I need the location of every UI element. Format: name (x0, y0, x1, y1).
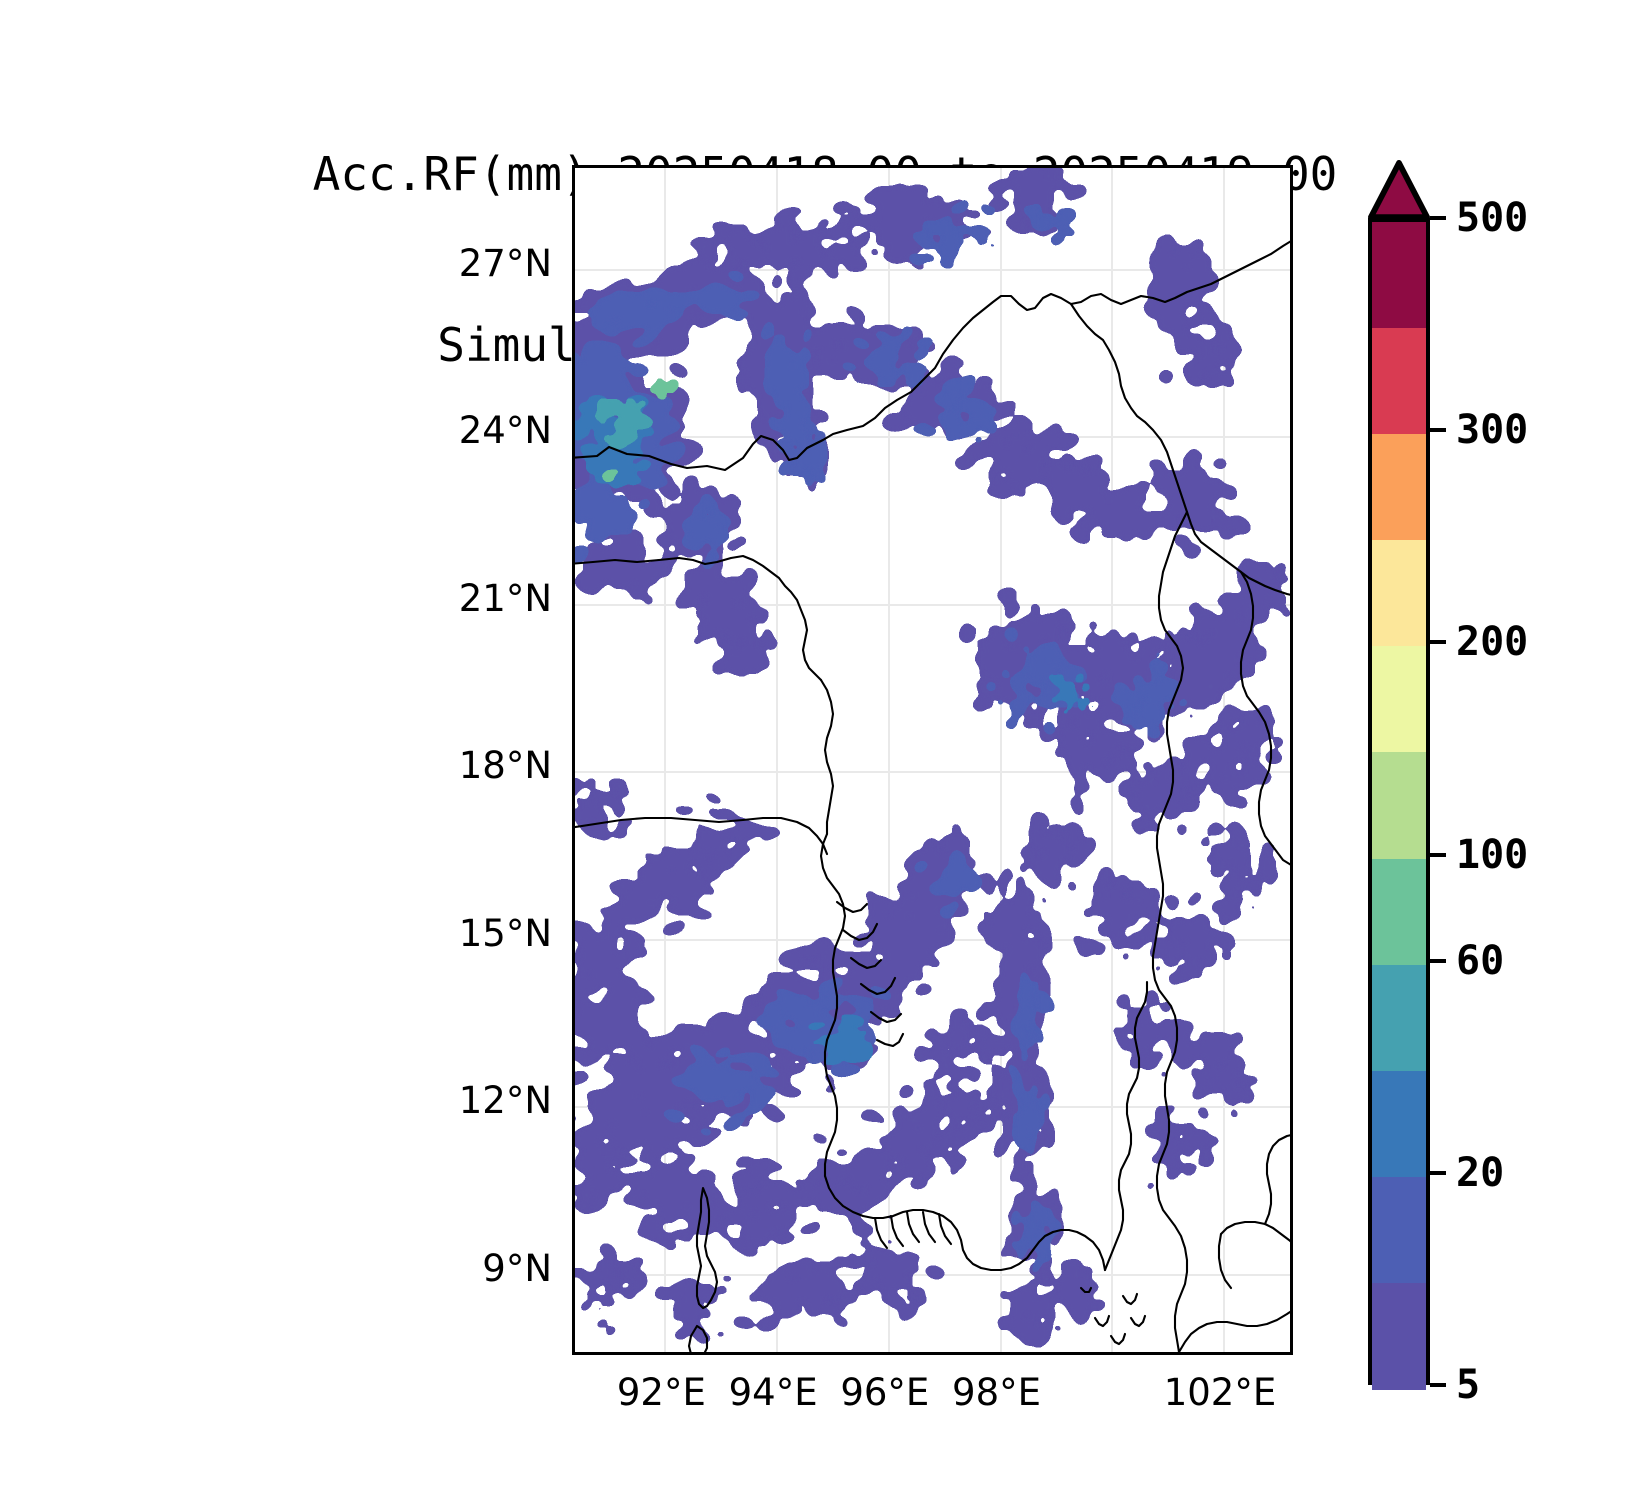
colorbar-band (1372, 859, 1426, 966)
latitude-tick-label: 15°N (392, 912, 552, 955)
colorbar-tick-label: 100 (1456, 832, 1528, 878)
coastline-overlay (575, 168, 1290, 1352)
colorbar-tick-label: 200 (1456, 619, 1528, 665)
colorbar-bands (1368, 218, 1430, 1385)
longitude-tick-label: 102°E (1130, 1371, 1310, 1414)
colorbar-band (1372, 1071, 1426, 1178)
colorbar-tick-mark (1430, 1383, 1446, 1387)
colorbar-band (1372, 646, 1426, 753)
colorbar: 50030020010060205 (1368, 160, 1648, 1392)
colorbar-extend-arrow (1367, 160, 1431, 220)
map-plot-area (575, 168, 1290, 1352)
latitude-tick-label: 21°N (392, 577, 552, 620)
colorbar-tick-mark (1430, 640, 1446, 644)
colorbar-band (1372, 222, 1426, 329)
colorbar-tick-label: 300 (1456, 407, 1528, 453)
map-axes (572, 165, 1293, 1355)
colorbar-tick-label: 60 (1456, 938, 1504, 984)
colorbar-band (1372, 965, 1426, 1072)
latitude-tick-label: 24°N (392, 409, 552, 452)
colorbar-tick-label: 20 (1456, 1150, 1504, 1196)
colorbar-band (1372, 752, 1426, 859)
colorbar-tick-mark (1430, 428, 1446, 432)
colorbar-tick-mark (1430, 959, 1446, 963)
colorbar-band (1372, 540, 1426, 647)
colorbar-band (1372, 328, 1426, 435)
colorbar-tick-mark (1430, 1171, 1446, 1175)
longitude-tick-label: 98°E (907, 1371, 1087, 1414)
latitude-tick-label: 9°N (392, 1247, 552, 1290)
colorbar-tick-mark (1430, 853, 1446, 857)
figure-canvas: Acc.RF(mm) 20250418_00 to 20250419_00 Si… (0, 0, 1650, 1500)
colorbar-band (1372, 434, 1426, 541)
colorbar-tick-label: 500 (1456, 195, 1528, 241)
colorbar-tick-mark (1430, 216, 1446, 220)
latitude-tick-label: 27°N (392, 242, 552, 285)
colorbar-band (1372, 1177, 1426, 1284)
latitude-tick-label: 18°N (392, 744, 552, 787)
colorbar-band (1372, 1283, 1426, 1390)
latitude-tick-label: 12°N (392, 1079, 552, 1122)
colorbar-tick-label: 5 (1456, 1362, 1480, 1408)
